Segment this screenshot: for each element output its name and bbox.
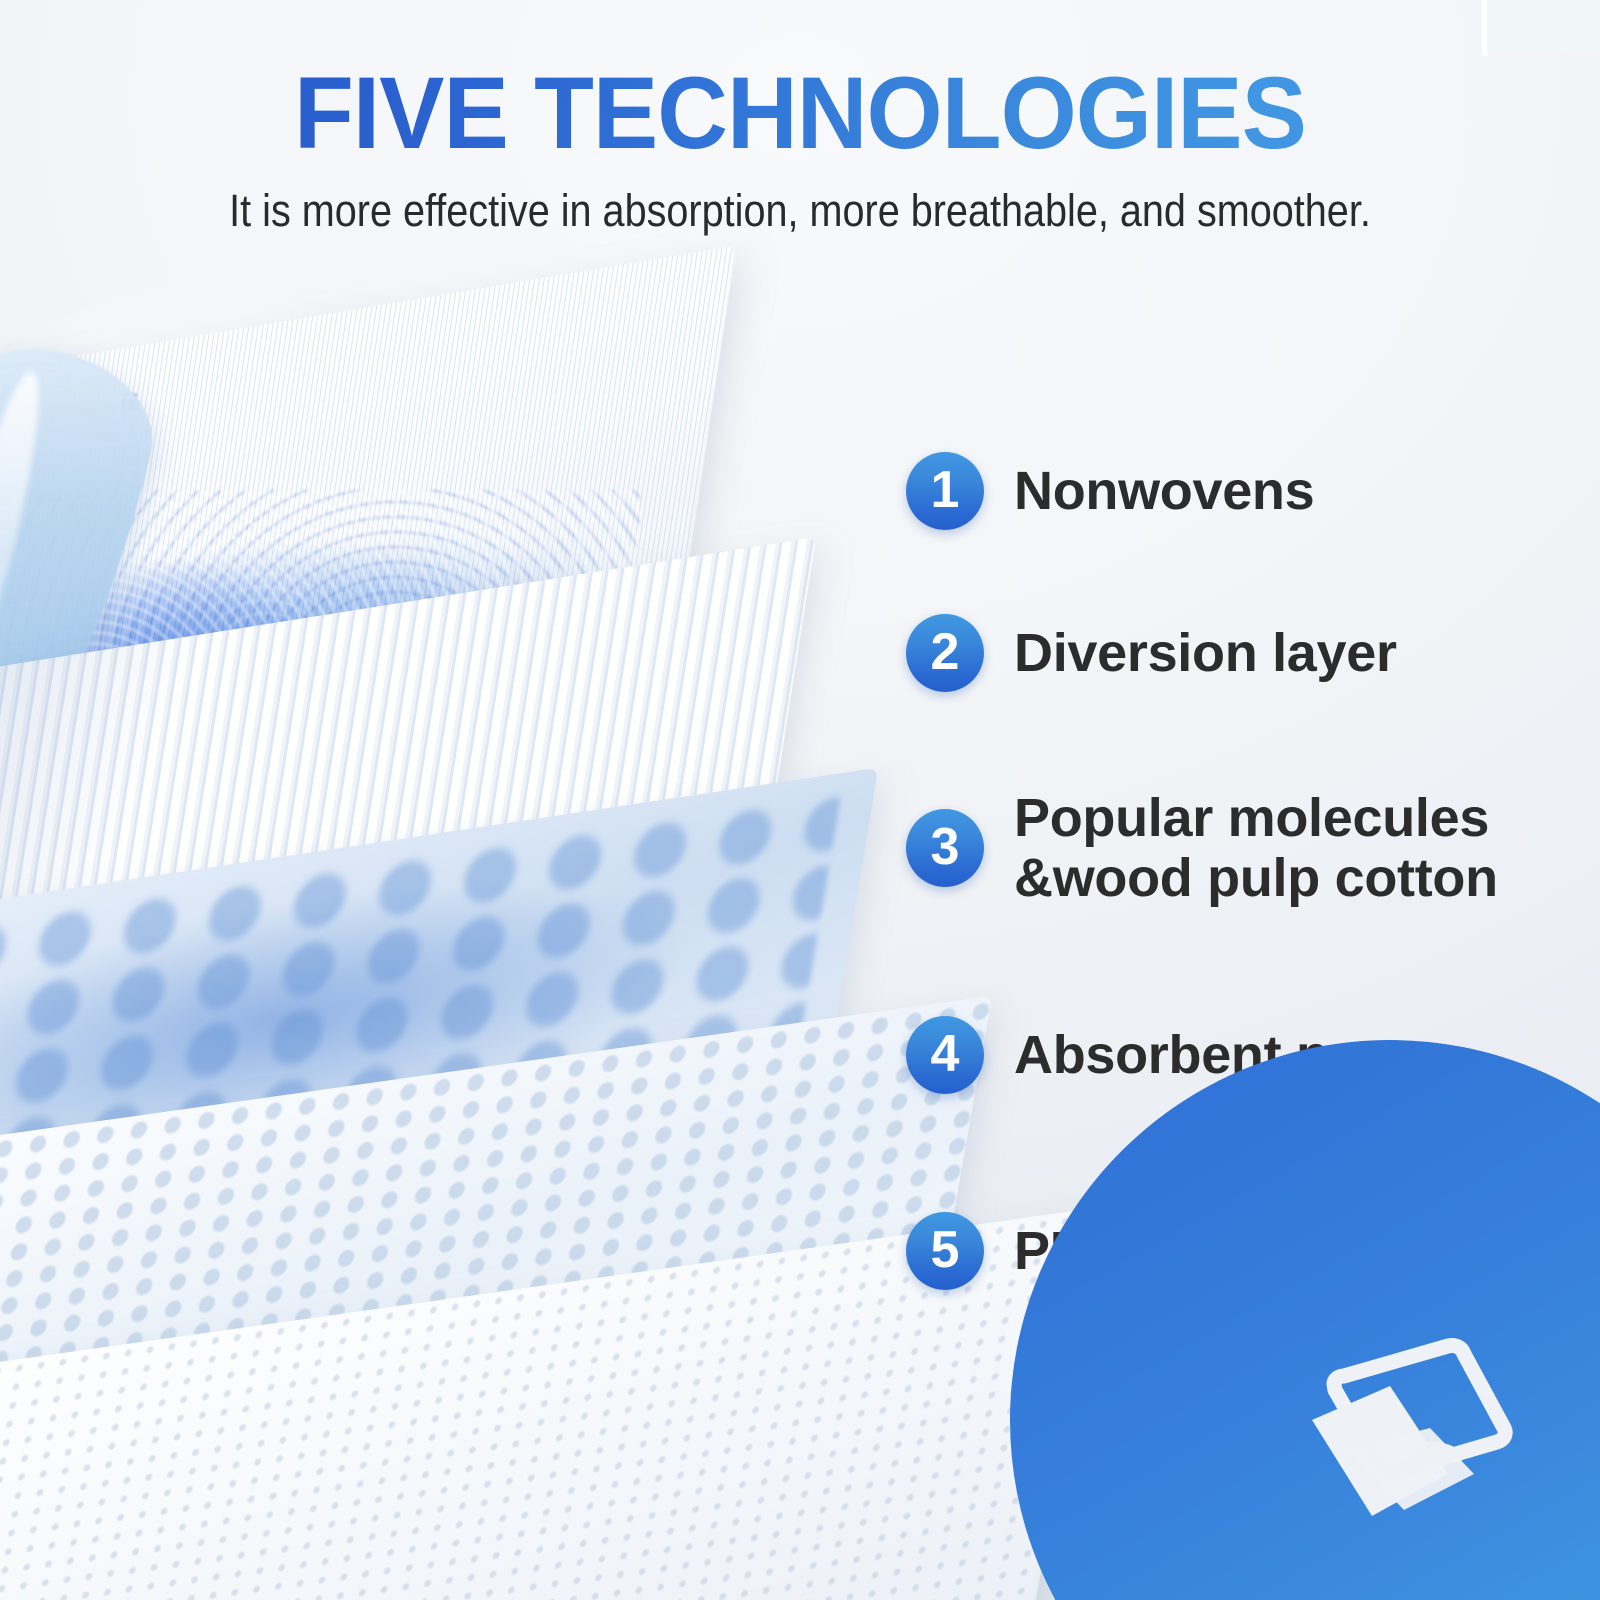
layer-label-1: Nonwovens: [1014, 461, 1314, 521]
badge-number-1: 1: [906, 452, 984, 530]
header: FIVE TECHNOLOGIES It is more effective i…: [0, 0, 1600, 239]
badge-number-4: 4: [906, 1016, 984, 1094]
list-item: 2 Diversion layer: [906, 614, 1600, 692]
stacked-sheets-icon: [1298, 1324, 1518, 1534]
layer-label-3: Popular molecules &wood pulp cotton: [1014, 788, 1498, 909]
badge-number-3: 3: [906, 809, 984, 887]
product-layer-illustration: [0, 330, 1060, 1600]
badge-number-5: 5: [906, 1212, 984, 1290]
page-subtitle: It is more effective in absorption, more…: [96, 164, 1504, 239]
layer-label-2: Diversion layer: [1014, 623, 1397, 683]
page-title: FIVE TECHNOLOGIES: [32, 0, 1568, 164]
list-item: 1 Nonwovens: [906, 452, 1600, 530]
list-item: 3 Popular molecules &wood pulp cotton: [906, 788, 1600, 909]
infographic-poster: FIVE TECHNOLOGIES It is more effective i…: [0, 0, 1600, 1600]
badge-number-2: 2: [906, 614, 984, 692]
